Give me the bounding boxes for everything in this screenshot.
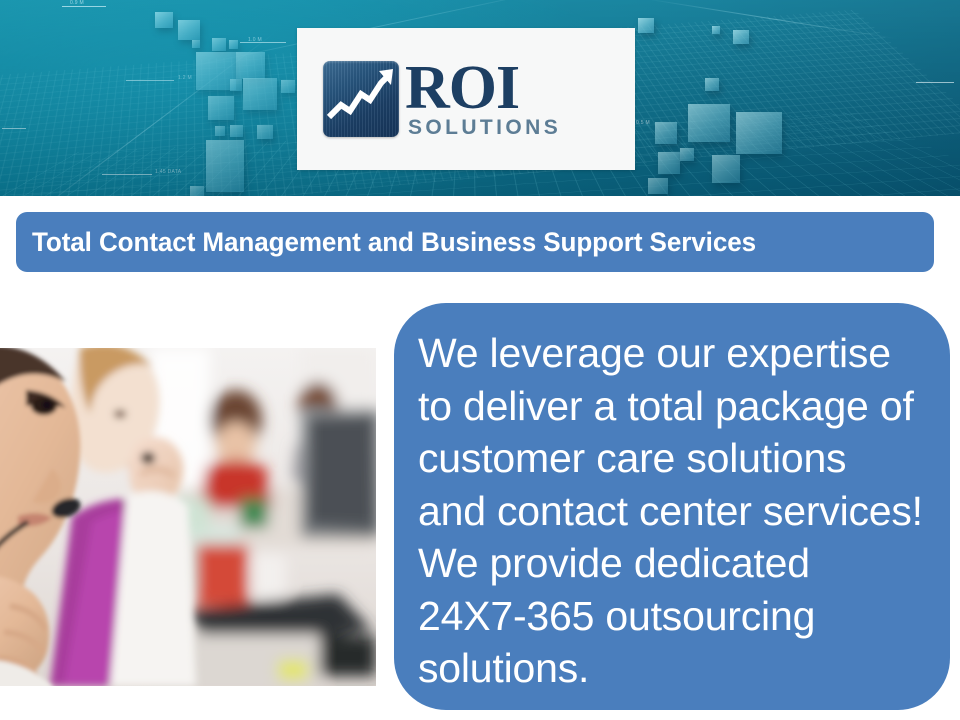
logo-secondary-text: SOLUTIONS bbox=[408, 118, 561, 137]
logo-wordmark: ROI SOLUTIONS bbox=[405, 60, 561, 137]
call-center-photo bbox=[0, 348, 376, 686]
value-proposition-panel: We leverage our expertise to deliver a t… bbox=[394, 303, 950, 710]
growth-chart-icon bbox=[323, 61, 399, 137]
roi-solutions-logo: ROI SOLUTIONS bbox=[297, 28, 635, 170]
page-title: Total Contact Management and Business Su… bbox=[32, 227, 756, 258]
logo-primary-text: ROI bbox=[405, 60, 561, 117]
slide-title-bar: Total Contact Management and Business Su… bbox=[16, 212, 934, 272]
header-banner: 0.9 M 1.2 M 1.45 DATA 1.0 M 0.5 M ROI SO… bbox=[0, 0, 960, 196]
value-proposition-text: We leverage our expertise to deliver a t… bbox=[418, 327, 923, 695]
